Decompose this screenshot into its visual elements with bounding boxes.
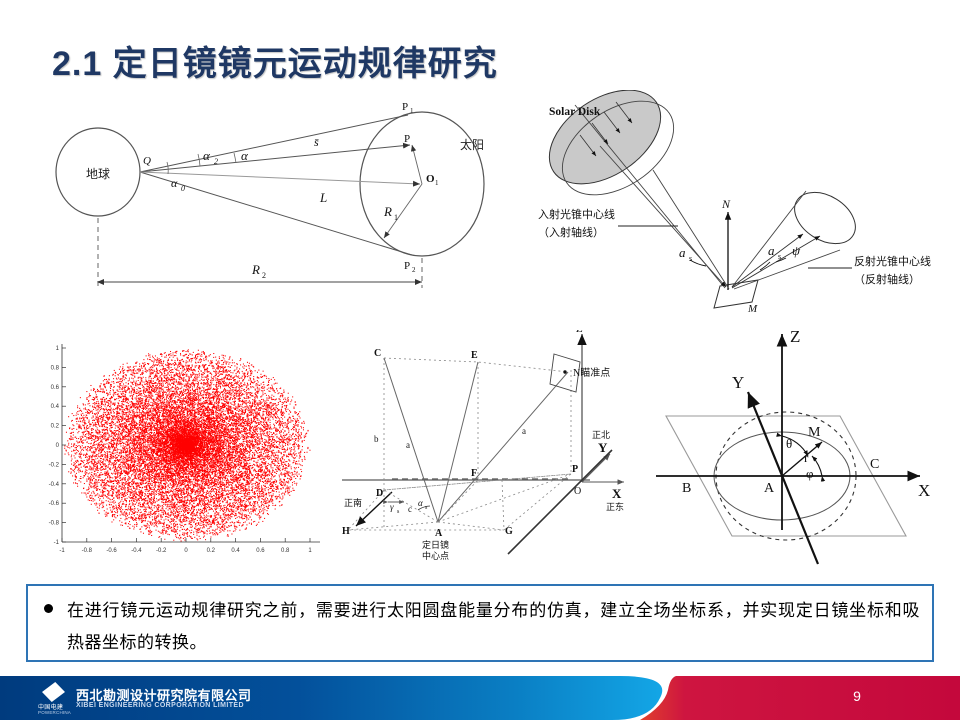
cone-out-edge-top (732, 191, 806, 287)
point-P-label: P (404, 133, 410, 145)
point-P1-label: P (402, 101, 408, 113)
axis-y-line (582, 454, 610, 482)
dotted-F-G (502, 480, 504, 530)
angle-alpha-label: α (418, 498, 423, 508)
normal-N-label: N (721, 197, 731, 211)
y-tick-label: -0.2 (49, 462, 60, 468)
angle-alpha-label: α (241, 148, 249, 163)
axis-y-label: Y (598, 440, 608, 455)
x-tick-label: 1 (308, 548, 312, 554)
cone-in-edge-bottom (653, 170, 729, 289)
powerchina-logo: 中国电建 POWERCHINA (38, 682, 72, 716)
x-tick-label: -0.4 (131, 548, 142, 554)
y-tick-label: -1 (54, 540, 60, 546)
incident-axis-label: （入射轴线） (538, 225, 604, 239)
earth-label: 地球 (86, 167, 110, 181)
bullet-row: 在进行镜元运动规律研究之前，需要进行太阳圆盘能量分布的仿真，建立全场坐标系，并实… (44, 595, 920, 659)
axis-z-label: Z (576, 330, 583, 335)
reflected-axis-label: （反射轴线） (854, 272, 920, 286)
R1-sub: 1 (394, 213, 398, 222)
angle-alpha0-arc (167, 162, 168, 174)
L-label: L (319, 190, 327, 205)
x-tick-label: 0 (184, 548, 188, 554)
y-tick-label: -0.6 (49, 501, 60, 507)
sun-label: 太阳 (460, 137, 484, 152)
cone-diagram-svg: M N Solar Disk a s 入射光锥中心线 （入射轴线） (520, 90, 960, 320)
ray-A-P (438, 474, 571, 522)
axis-z-label: Z (790, 327, 800, 346)
bullet-marker-icon (44, 604, 53, 613)
x-tick-label: 0.6 (256, 548, 265, 554)
x-tick-labels: -1-0.8-0.6-0.4-0.200.20.40.60.81 (59, 538, 312, 554)
sun-O1-P-line (412, 145, 422, 184)
angle-alpha0-sub: 0 (181, 184, 185, 193)
point-E-label: E (471, 350, 478, 361)
L-axis-line (140, 172, 420, 184)
R1-label: R (383, 204, 392, 219)
heliostat-center-line1: 定日镜 (422, 539, 449, 550)
y-tick-label: -0.8 (49, 521, 60, 527)
scatter-points-group (64, 349, 310, 541)
figure-field-coordinate-system: Z X 正东 Y 正北 正南 (332, 330, 632, 562)
point-O1-sub: 1 (435, 179, 439, 187)
ray-A-E (438, 362, 478, 522)
edge-a-label-1: a (406, 440, 410, 450)
angle-gamma-label: γ (390, 502, 394, 512)
x-tick-label: 0.8 (281, 548, 290, 554)
x-tick-label: 0.2 (207, 548, 216, 554)
ray-A-G (438, 522, 504, 530)
point-P-label: P (572, 464, 578, 475)
radius-label: r (804, 450, 809, 465)
theta-label: θ (786, 436, 792, 451)
x-tick-label: -0.6 (106, 548, 117, 554)
figure-solar-disk-scatter: -1-0.8-0.6-0.4-0.200.20.40.60.81 -1-0.8-… (42, 332, 332, 562)
east-label: 正东 (606, 501, 624, 512)
y-tick-label: 0.2 (51, 424, 60, 430)
field-coordinate-svg: Z X 正东 Y 正北 正南 (332, 330, 632, 562)
R2-label: R (251, 262, 260, 277)
reflected-axis-line (732, 234, 803, 287)
point-O-label: O (574, 486, 581, 497)
x-tick-label: -0.2 (156, 548, 167, 554)
spherical-coordinate-svg: X Z Y M r θ φ A B C (640, 320, 960, 570)
edge-b-label: b (374, 434, 379, 444)
y-tick-labels: -1-0.8-0.6-0.4-0.200.20.40.60.81 (49, 346, 66, 546)
point-A-label: A (435, 528, 443, 539)
y-tick-label: 1 (56, 346, 60, 352)
cone-upper-line (140, 115, 408, 172)
point-H-label: H (342, 526, 350, 537)
y-tick-label: 0.6 (51, 385, 60, 391)
phi-label: φ (806, 466, 814, 481)
point-F-label: F (471, 468, 477, 479)
summary-text-box: 在进行镜元运动规律研究之前，需要进行太阳圆盘能量分布的仿真，建立全场坐标系，并实… (26, 584, 934, 662)
R2-sub: 2 (262, 271, 266, 280)
figure-spherical-coordinate-system: X Z Y M r θ φ A B C (640, 320, 960, 570)
s-vector-label: s̄ (314, 135, 319, 149)
edge-a-label-2: a (522, 426, 526, 436)
figure-incident-reflected-cone: M N Solar Disk a s 入射光锥中心线 （入射轴线） (520, 90, 960, 320)
incident-angle-sub: s (689, 254, 692, 263)
angle-alpha0-label: α (171, 176, 178, 190)
point-C-label: C (870, 457, 879, 472)
x-tick-label: -0.8 (82, 548, 93, 554)
slide-canvas: 2.1 定日镜镜元运动规律研究 地球 太阳 (0, 0, 960, 720)
reflected-angle-label: a (768, 243, 775, 258)
sun-earth-diagram-svg: 地球 太阳 Q α 0 α 2 α s̄ L (40, 92, 520, 307)
incident-center-line-label: 入射光锥中心线 (538, 207, 615, 221)
bullet-text: 在进行镜元运动规律研究之前，需要进行太阳圆盘能量分布的仿真，建立全场坐标系，并实… (67, 595, 920, 659)
point-A-label: A (764, 481, 775, 496)
angle-alpha2-sub: 2 (214, 157, 218, 166)
logo-en-text: POWERCHINA (38, 710, 71, 715)
solar-disk-label: Solar Disk (549, 106, 601, 118)
reflected-angle-sub: s (778, 252, 781, 261)
ray-A-C (384, 358, 438, 522)
heliostat-center-line2: 中心点 (422, 550, 449, 561)
point-O1-label: O (426, 173, 435, 185)
y-tick-label: 0 (56, 443, 60, 449)
reflected-center-line-label: 反射光锥中心线 (854, 254, 931, 268)
logo-diamond-icon (40, 682, 67, 702)
incident-angle-arc (690, 260, 706, 266)
page-title: 2.1 定日镜镜元运动规律研究 (52, 36, 498, 85)
y-tick-label: 0.4 (51, 404, 60, 410)
y-tick-label: 0.8 (51, 365, 60, 371)
point-M-label: M (808, 425, 821, 440)
s-vector-line (140, 145, 410, 172)
point-P2-sub: 2 (412, 266, 416, 274)
mirror-M-label: M (747, 303, 758, 315)
point-C-label: C (374, 348, 381, 359)
incident-axis-line (600, 146, 726, 287)
page-number: 9 (845, 688, 869, 704)
edge-c-label: c (408, 504, 412, 514)
point-P1-sub: 1 (410, 107, 414, 115)
axis-y-label: Y (732, 373, 744, 392)
y-tick-label: -0.4 (49, 482, 60, 488)
aim-point-marker (563, 370, 566, 373)
axis-x-label: X (612, 486, 622, 501)
ray-A-N (438, 372, 568, 522)
north-label: 正北 (592, 430, 610, 440)
point-Q-label: Q (143, 155, 151, 167)
point-D-label: D (376, 488, 383, 499)
footer-crimson-band (640, 676, 960, 720)
angle-alpha2-label: α (203, 148, 211, 163)
angle-gamma-sub: s (397, 509, 400, 515)
incident-angle-label: a (679, 245, 686, 260)
oblique-axis-line (508, 450, 612, 554)
point-P2-label: P (404, 260, 410, 272)
figure-sun-earth-geometry: 地球 太阳 Q α 0 α 2 α s̄ L (40, 92, 520, 307)
point-B-label: B (682, 481, 691, 496)
scatter-plot-svg: -1-0.8-0.6-0.4-0.200.20.40.60.81 -1-0.8-… (42, 332, 332, 562)
x-tick-label: 0.4 (231, 548, 240, 554)
psi-angle-label: ψ (792, 243, 801, 258)
axis-x-label: X (918, 481, 930, 500)
slide-footer: 中国电建 POWERCHINA 西北勘测设计研究院有限公司 XIBEI ENGI… (0, 676, 960, 720)
angle-alpha-arc (234, 153, 236, 163)
company-name-en: XIBEI ENGINEERING CORPORATION LIMITED (76, 702, 244, 709)
aim-point-label: N瞄准点 (573, 367, 610, 379)
point-G-label: G (505, 526, 513, 537)
x-tick-label: -1 (59, 548, 65, 554)
ray-A-H (348, 522, 438, 530)
south-label: 正南 (344, 497, 362, 508)
